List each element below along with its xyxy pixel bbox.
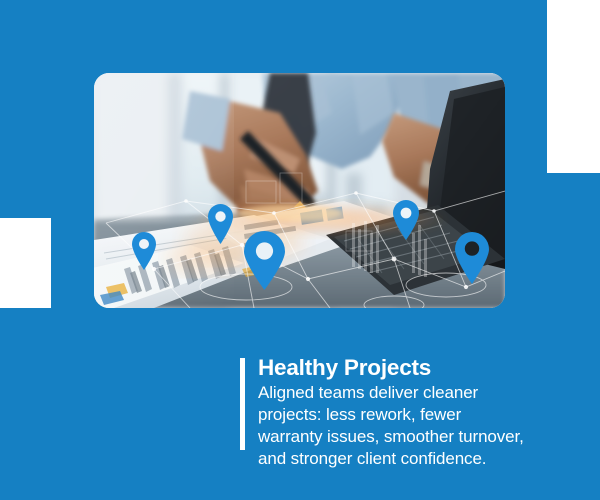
slide-canvas: Healthy Projects Aligned teams deliver c…	[0, 0, 600, 500]
decor-block-left	[0, 218, 51, 308]
decor-block-top-right	[547, 0, 600, 173]
headline: Healthy Projects	[258, 355, 588, 381]
photo-illustration	[94, 73, 505, 308]
body-line-1: Aligned teams deliver cleaner	[258, 382, 588, 404]
body-line-2: projects: less rework, fewer	[258, 404, 588, 426]
caption-block: Healthy Projects Aligned teams deliver c…	[240, 355, 588, 470]
photo-card	[94, 73, 505, 308]
body-line-3: warranty issues, smoother turnover,	[258, 426, 588, 448]
body-line-4: and stronger client confidence.	[258, 448, 588, 470]
accent-bar	[240, 358, 245, 450]
caption-copy: Healthy Projects Aligned teams deliver c…	[258, 355, 588, 470]
